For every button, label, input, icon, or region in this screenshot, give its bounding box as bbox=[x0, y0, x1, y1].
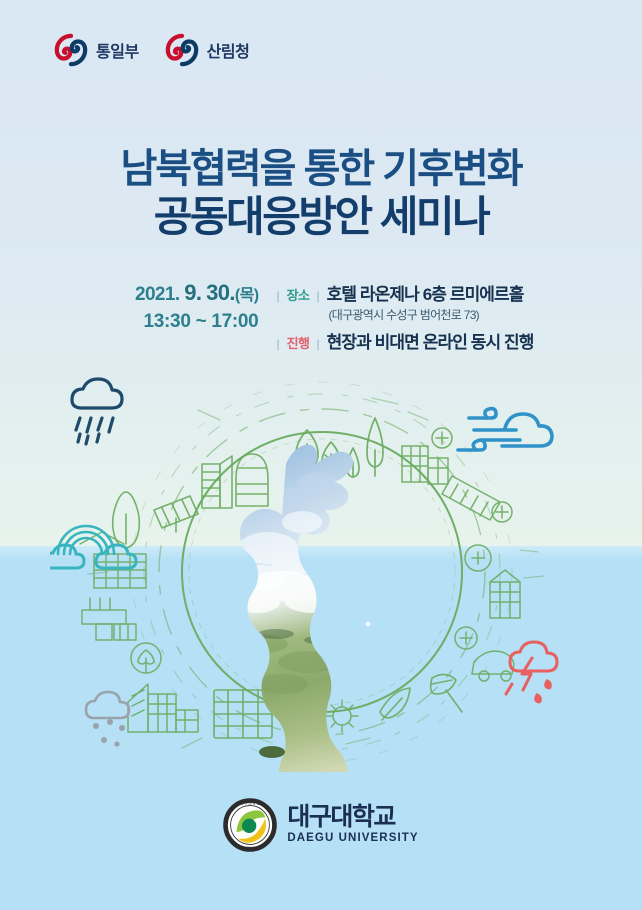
title-line-1: 남북협력을 통한 기후변화 bbox=[0, 148, 642, 191]
title-line-2: 공동대응방안 세미나 bbox=[0, 193, 642, 241]
venue-row: | 장소 | 호텔 라온제나 6층 르미에르홀 bbox=[276, 280, 533, 305]
university-logo: 대 구 대 학 교 DAEGU UNIVERSITY 대구대학교 DAEGU U… bbox=[0, 798, 642, 852]
jeju-island bbox=[259, 746, 285, 758]
divider-bar: | bbox=[276, 337, 279, 351]
thunderstorm-icon bbox=[506, 642, 557, 703]
poster-canvas: 통일부 산림청 남북협력을 통한 기후변화 공동대응방안 세미나 2021. 9… bbox=[0, 0, 642, 910]
islet-dot bbox=[366, 622, 371, 627]
date-weekday: (목) bbox=[235, 287, 259, 304]
event-datetime: 2021. 9. 30.(목) 13:30 ~ 17:00 bbox=[108, 278, 258, 334]
university-name-ko: 대구대학교 bbox=[287, 805, 418, 830]
event-details: | 장소 | 호텔 라온제나 6층 르미에르홀 (대구광역시 수성구 범어천로 … bbox=[276, 278, 533, 353]
ministry-logo-unification: 통일부 bbox=[54, 33, 139, 67]
divider-bar: | bbox=[276, 289, 279, 303]
daegu-university-emblem-icon: 대 구 대 학 교 DAEGU UNIVERSITY bbox=[223, 798, 277, 852]
korean-peninsula-map bbox=[200, 432, 460, 772]
ministry-logo-group: 통일부 산림청 bbox=[54, 33, 249, 67]
taegeuk-mark-icon bbox=[54, 33, 88, 67]
mode-value: 현장과 비대면 온라인 동시 진행 bbox=[327, 328, 534, 353]
mode-row: | 진행 | 현장과 비대면 온라인 동시 진행 bbox=[276, 328, 533, 353]
divider-bar: | bbox=[317, 289, 320, 303]
snow-cloud-icon bbox=[86, 692, 129, 747]
ministry-logo-forest-service: 산림청 bbox=[165, 33, 250, 67]
svg-text:DAEGU UNIVERSITY: DAEGU UNIVERSITY bbox=[236, 846, 264, 850]
rain-cloud-icon bbox=[72, 379, 122, 444]
event-time: 13:30 ~ 17:00 bbox=[108, 310, 258, 335]
mode-tag-label: 진행 bbox=[287, 333, 310, 352]
central-illustration bbox=[50, 372, 595, 772]
ministry-name-label: 통일부 bbox=[96, 38, 139, 62]
poster-title: 남북협력을 통한 기후변화 공동대응방안 세미나 bbox=[0, 148, 642, 241]
university-name-en: DAEGU UNIVERSITY bbox=[287, 833, 418, 845]
event-date-row: 2021. 9. 30.(목) bbox=[108, 279, 258, 307]
date-day: 30. bbox=[206, 280, 235, 305]
date-year: 2021. bbox=[135, 284, 180, 305]
divider-bar: | bbox=[317, 337, 320, 351]
taegeuk-mark-icon bbox=[165, 33, 199, 67]
event-info-block: 2021. 9. 30.(목) 13:30 ~ 17:00 | 장소 | 호텔 … bbox=[0, 278, 642, 353]
university-name-block: 대구대학교 DAEGU UNIVERSITY bbox=[287, 805, 418, 845]
date-month: 9. bbox=[184, 280, 201, 305]
svg-text:대 구 대 학 교: 대 구 대 학 교 bbox=[241, 801, 260, 806]
venue-tag-label: 장소 bbox=[287, 285, 310, 304]
wind-cloud-icon bbox=[458, 409, 552, 450]
venue-value: 호텔 라온제나 6층 르미에르홀 bbox=[327, 280, 524, 305]
venue-address: (대구광역시 수성구 범어천로 73) bbox=[328, 306, 533, 323]
ministry-name-label: 산림청 bbox=[207, 38, 250, 62]
